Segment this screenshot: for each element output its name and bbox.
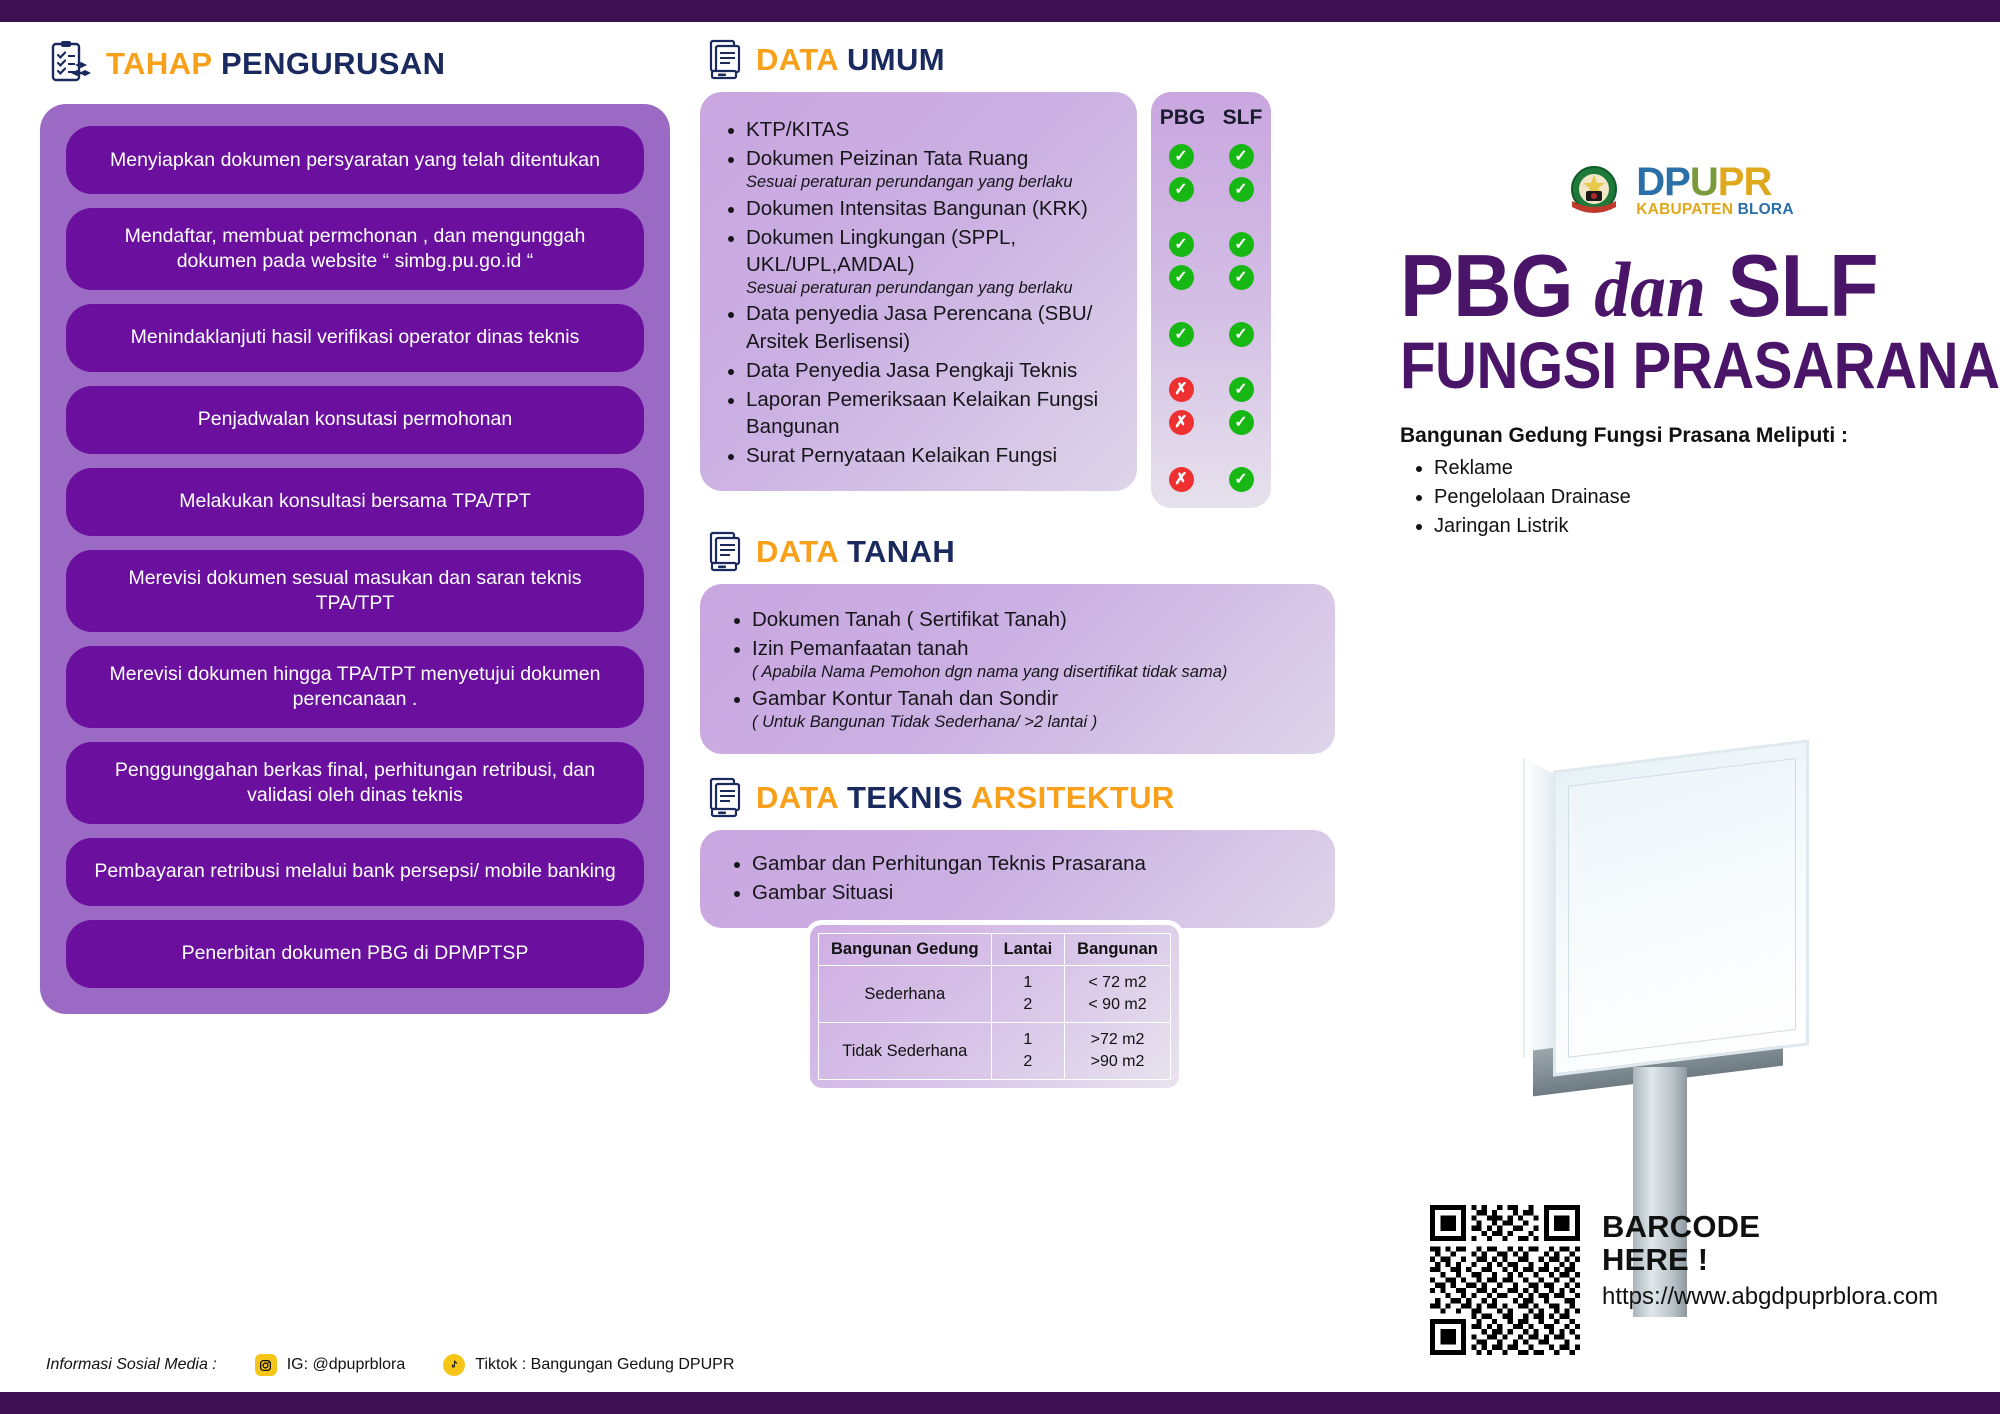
- data-umum-word1: DATA: [756, 42, 838, 77]
- column-header-bangunan: Bangunan: [1065, 934, 1171, 966]
- data-tanah-card: Dokumen Tanah ( Sertifikat Tanah) Izin P…: [700, 584, 1335, 754]
- step-item[interactable]: Merevisi dokumen sesual masukan dan sara…: [66, 550, 644, 632]
- list-item: Surat Pernyataan Kelaikan Fungsi: [746, 442, 1115, 469]
- item-text: Data penyedia Jasa Perencana (SBU/ Arsit…: [746, 302, 1092, 352]
- data-tanah-heading: DATA TANAH: [708, 530, 1360, 572]
- check-icon: ✓: [1169, 265, 1194, 290]
- table-header-row: Bangunan Gedung Lantai Bangunan: [819, 934, 1171, 966]
- data-umum-heading: DATA UMUM: [708, 38, 1360, 80]
- prasarana-list: Reklame Pengelolaan Drainase Jaringan Li…: [1400, 454, 1960, 541]
- item-note: Sesuai peraturan perundangan yang berlak…: [746, 278, 1115, 299]
- pbg-slf-check-table: PBG SLF ✓ ✓ ✓ ✓ ✓ ✓ ✓ ✓: [1151, 92, 1271, 508]
- instagram-icon[interactable]: [255, 1354, 277, 1376]
- list-item: Izin Pemanfaatan tanah ( Apabila Nama Pe…: [752, 635, 1309, 683]
- check-row: ✗ ✓: [1151, 410, 1271, 435]
- data-teknis-word3: ARSITEKTUR: [971, 780, 1175, 815]
- document-icon: [708, 38, 742, 80]
- steps-card: Menyiapkan dokumen persyaratan yang tela…: [40, 104, 670, 1014]
- data-teknis-card: Gambar dan Perhitungan Teknis Prasarana …: [700, 830, 1335, 928]
- title-pbg: PBG: [1400, 236, 1573, 335]
- bangunan-value: >90 m2: [1091, 1053, 1145, 1070]
- data-tanah-word1: DATA: [756, 534, 838, 569]
- qr-url[interactable]: https://www.abgdpuprblora.com: [1602, 1283, 1938, 1311]
- check-icon: ✓: [1229, 144, 1254, 169]
- dpupr-subtext: KABUPATEN BLORA: [1636, 203, 1793, 217]
- cross-icon: ✗: [1169, 377, 1194, 402]
- cell-label: Sederhana: [819, 966, 992, 1023]
- column-header-slf: SLF: [1223, 106, 1263, 130]
- check-icon: ✓: [1169, 144, 1194, 169]
- list-item: Gambar Situasi: [752, 879, 1309, 906]
- blora-regency-seal-icon: [1566, 163, 1622, 219]
- tahap-heading-word1: TAHAP: [106, 46, 212, 81]
- bottom-accent-bar: [0, 1392, 2000, 1414]
- item-text: Izin Pemanfaatan tanah: [752, 637, 969, 660]
- clipboard-checklist-icon: [50, 40, 92, 86]
- bangunan-value: >72 m2: [1091, 1031, 1145, 1048]
- cell-label: Tidak Sederhana: [819, 1023, 992, 1080]
- step-item[interactable]: Penjadwalan konsutasi permohonan: [66, 386, 644, 454]
- item-note: ( Untuk Bangunan Tidak Sederhana/ >2 lan…: [752, 712, 1309, 733]
- list-item: Dokumen Intensitas Bangunan (KRK): [746, 195, 1115, 222]
- lantai-value: 1: [1023, 974, 1032, 991]
- check-row: ✗ ✓: [1151, 467, 1271, 492]
- list-item: Laporan Pemeriksaan Kelaikan Fungsi Bang…: [746, 386, 1115, 440]
- qr-line-1: BARCODE: [1602, 1211, 1938, 1244]
- list-item: Data Penyedia Jasa Pengkaji Teknis: [746, 357, 1115, 384]
- check-icon: ✓: [1229, 322, 1254, 347]
- top-accent-bar: [0, 0, 2000, 22]
- item-text: Dokumen Lingkungan (SPPL, UKL/UPL,AMDAL): [746, 226, 1016, 276]
- check-icon: ✓: [1229, 410, 1254, 435]
- data-umum-list: KTP/KITAS Dokumen Peizinan Tata Ruang Se…: [720, 116, 1115, 469]
- data-teknis-list: Gambar dan Perhitungan Teknis Prasarana …: [726, 850, 1309, 906]
- qr-line-2: HERE !: [1602, 1244, 1938, 1277]
- cell-bangunan: >72 m2 >90 m2: [1065, 1023, 1171, 1080]
- data-teknis-word2: TEKNIS: [847, 780, 963, 815]
- bangunan-value: < 90 m2: [1088, 996, 1146, 1013]
- data-tanah-word2: TANAH: [847, 534, 955, 569]
- bangunan-gedung-table-wrap: Bangunan Gedung Lantai Bangunan Sederhan…: [810, 925, 1179, 1088]
- step-item[interactable]: Melakukan konsultasi bersama TPA/TPT: [66, 468, 644, 536]
- list-item: Dokumen Tanah ( Sertifikat Tanah): [752, 606, 1309, 633]
- cell-lantai: 1 2: [991, 1023, 1065, 1080]
- data-teknis-word1: DATA: [756, 780, 838, 815]
- check-row: ✗ ✓: [1151, 377, 1271, 402]
- qr-caption: BARCODE HERE ! https://www.abgdpuprblora…: [1602, 1205, 1938, 1311]
- list-item: Dokumen Lingkungan (SPPL, UKL/UPL,AMDAL)…: [746, 224, 1115, 299]
- tiktok-icon[interactable]: [443, 1354, 465, 1376]
- data-tanah-list: Dokumen Tanah ( Sertifikat Tanah) Izin P…: [726, 606, 1309, 732]
- check-row: ✓ ✓: [1151, 265, 1271, 290]
- check-icon: ✓: [1169, 177, 1194, 202]
- step-item[interactable]: Merevisi dokumen hingga TPA/TPT menyetuj…: [66, 646, 644, 728]
- title-slf: SLF: [1728, 236, 1878, 335]
- list-item: Pengelolaan Drainase: [1434, 483, 1960, 512]
- check-icon: ✓: [1169, 322, 1194, 347]
- tahap-pengurusan-heading: TAHAP PENGURUSAN: [50, 40, 670, 86]
- list-item: Reklame: [1434, 454, 1960, 483]
- cross-icon: ✗: [1169, 467, 1194, 492]
- check-icon: ✓: [1229, 177, 1254, 202]
- title-line-2: FUNGSI PRASARANA: [1400, 332, 1893, 398]
- step-item[interactable]: Menyiapkan dokumen persyaratan yang tela…: [66, 126, 644, 194]
- billboard-face: [1553, 739, 1809, 1076]
- item-text: Dokumen Tanah ( Sertifikat Tanah): [752, 608, 1067, 631]
- check-row: ✓ ✓: [1151, 144, 1271, 169]
- item-text: Dokumen Intensitas Bangunan (KRK): [746, 197, 1088, 220]
- item-text: Data Penyedia Jasa Pengkaji Teknis: [746, 359, 1077, 382]
- footer-label: Informasi Sosial Media :: [46, 1356, 217, 1374]
- table-row: Tidak Sederhana 1 2 >72 m2 >90 m2: [819, 1023, 1171, 1080]
- list-item: KTP/KITAS: [746, 116, 1115, 143]
- list-item: Gambar Kontur Tanah dan Sondir ( Untuk B…: [752, 685, 1309, 733]
- dpupr-logo: DPUPR KABUPATEN BLORA: [1636, 164, 1793, 217]
- step-item[interactable]: Menindaklanjuti hasil verifikasi operato…: [66, 304, 644, 372]
- item-text: Surat Pernyataan Kelaikan Fungsi: [746, 444, 1057, 467]
- cell-lantai: 1 2: [991, 966, 1065, 1023]
- item-text: KTP/KITAS: [746, 118, 849, 141]
- step-item[interactable]: Penerbitan dokumen PBG di DPMPTSP: [66, 920, 644, 988]
- item-text: Gambar Kontur Tanah dan Sondir: [752, 687, 1058, 710]
- check-icon: ✓: [1229, 232, 1254, 257]
- instagram-handle: IG: @dpuprblora: [287, 1356, 406, 1374]
- tiktok-handle: Tiktok : Bangungan Gedung DPUPR: [475, 1356, 734, 1374]
- data-column: DATA UMUM KTP/KITAS Dokumen Peizinan Tat…: [700, 38, 1360, 928]
- check-row: ✓ ✓: [1151, 322, 1271, 347]
- billboard-inner-panel: [1568, 758, 1796, 1058]
- list-item: Gambar dan Perhitungan Teknis Prasarana: [752, 850, 1309, 877]
- step-item[interactable]: Pembayaran retribusi melalui bank persep…: [66, 838, 644, 906]
- qr-code-icon[interactable]: [1430, 1205, 1580, 1355]
- title-dan: dan: [1594, 246, 1706, 333]
- bangunan-gedung-table: Bangunan Gedung Lantai Bangunan Sederhan…: [818, 933, 1171, 1080]
- logo-dp: DP: [1636, 160, 1690, 204]
- logo-row: DPUPR KABUPATEN BLORA: [1400, 160, 1960, 222]
- item-text: Laporan Pemeriksaan Kelaikan Fungsi Bang…: [746, 388, 1098, 438]
- item-text: Dokumen Peizinan Tata Ruang: [746, 147, 1028, 170]
- logo-sub-kabupaten: KABUPATEN: [1636, 201, 1733, 218]
- step-item[interactable]: Penggunggahan berkas final, perhitungan …: [66, 742, 644, 824]
- list-item: Data penyedia Jasa Perencana (SBU/ Arsit…: [746, 300, 1115, 354]
- lantai-value: 2: [1023, 996, 1032, 1013]
- document-icon: [708, 530, 742, 572]
- check-row: ✓ ✓: [1151, 232, 1271, 257]
- data-umum-row: KTP/KITAS Dokumen Peizinan Tata Ruang Se…: [700, 92, 1360, 508]
- data-teknis-heading: DATA TEKNIS ARSITEKTUR: [708, 776, 1360, 818]
- bangunan-value: < 72 m2: [1088, 974, 1146, 991]
- lantai-value: 2: [1023, 1053, 1032, 1070]
- dpupr-wordmark: DPUPR: [1636, 164, 1793, 201]
- column-header-lantai: Lantai: [991, 934, 1065, 966]
- title-column: DPUPR KABUPATEN BLORA PBG dan SLF FUNGSI…: [1400, 160, 1960, 541]
- logo-r: R: [1743, 160, 1771, 204]
- check-icon: ✓: [1229, 467, 1254, 492]
- check-table-header: PBG SLF: [1151, 106, 1271, 130]
- logo-sub-blora: BLORA: [1738, 201, 1794, 218]
- logo-p: P: [1718, 160, 1744, 204]
- check-icon: ✓: [1169, 232, 1194, 257]
- page-title: PBG dan SLF FUNGSI PRASARANA: [1400, 244, 1960, 398]
- check-icon: ✓: [1229, 265, 1254, 290]
- column-header-pbg: PBG: [1160, 106, 1206, 130]
- step-item[interactable]: Mendaftar, membuat permchonan , dan meng…: [66, 208, 644, 290]
- logo-u: U: [1690, 160, 1718, 204]
- infographic-page: TAHAP PENGURUSAN Menyiapkan dokumen pers…: [0, 0, 2000, 1414]
- cross-icon: ✗: [1169, 410, 1194, 435]
- item-note: ( Apabila Nama Pemohon dgn nama yang dis…: [752, 662, 1309, 683]
- data-umum-word2: UMUM: [847, 42, 945, 77]
- lantai-value: 1: [1023, 1031, 1032, 1048]
- check-row: ✓ ✓: [1151, 177, 1271, 202]
- footer-social-media: Informasi Sosial Media : IG: @dpuprblora…: [46, 1354, 734, 1376]
- check-icon: ✓: [1229, 377, 1254, 402]
- cell-bangunan: < 72 m2 < 90 m2: [1065, 966, 1171, 1023]
- table-row: Sederhana 1 2 < 72 m2 < 90 m2: [819, 966, 1171, 1023]
- title-line-1: PBG dan SLF: [1400, 244, 1915, 328]
- subtitle: Bangunan Gedung Fungsi Prasana Meliputi …: [1400, 424, 1960, 448]
- qr-block: BARCODE HERE ! https://www.abgdpuprblora…: [1430, 1205, 1938, 1355]
- list-item: Jaringan Listrik: [1434, 512, 1960, 541]
- document-icon: [708, 776, 742, 818]
- tahap-heading-word2: PENGURUSAN: [221, 46, 445, 81]
- data-umum-card: KTP/KITAS Dokumen Peizinan Tata Ruang Se…: [700, 92, 1137, 491]
- column-header-bangunan-gedung: Bangunan Gedung: [819, 934, 992, 966]
- tahap-pengurusan-column: TAHAP PENGURUSAN Menyiapkan dokumen pers…: [40, 40, 670, 1014]
- list-item: Dokumen Peizinan Tata Ruang Sesuai perat…: [746, 145, 1115, 193]
- item-note: Sesuai peraturan perundangan yang berlak…: [746, 172, 1115, 193]
